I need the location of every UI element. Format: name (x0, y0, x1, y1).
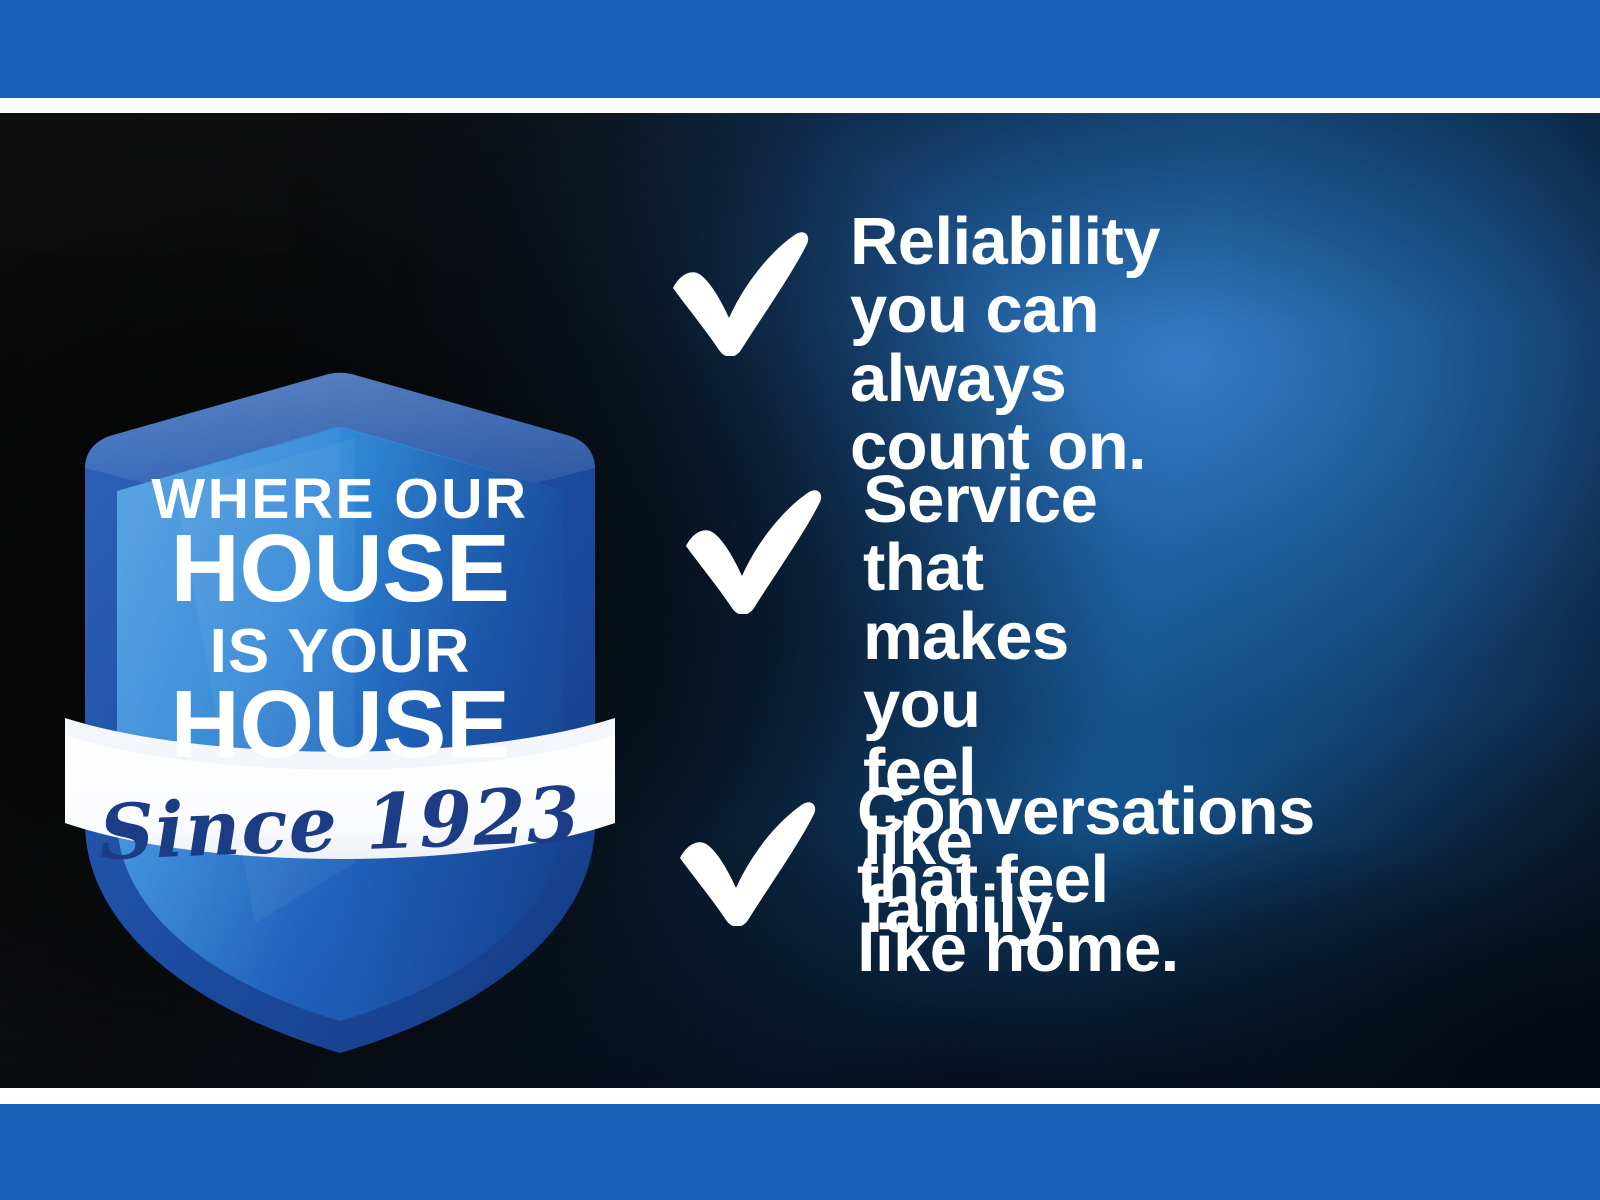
checkmark-icon (678, 484, 828, 614)
badge-line-house1: House (55, 525, 625, 613)
top-brand-bar (0, 0, 1600, 98)
benefit-text-1: Reliability you can always count on. (850, 208, 1160, 481)
promo-graphic: Where our House Is your House Since 1923… (0, 0, 1600, 1200)
main-stage: Where our House Is your House Since 1923… (0, 113, 1600, 1088)
top-white-divider (0, 98, 1600, 113)
badge-line-house2: House (55, 681, 625, 769)
checkmark-icon (665, 226, 815, 356)
benefit-text-3: Conversations that feel like home. (857, 778, 1315, 983)
bottom-brand-bar (0, 1104, 1600, 1200)
checkmark-icon (672, 796, 822, 926)
background-noise-texture (0, 113, 290, 253)
shield-badge: Where our House Is your House Since 1923 (55, 263, 625, 1063)
bottom-white-divider (0, 1088, 1600, 1104)
